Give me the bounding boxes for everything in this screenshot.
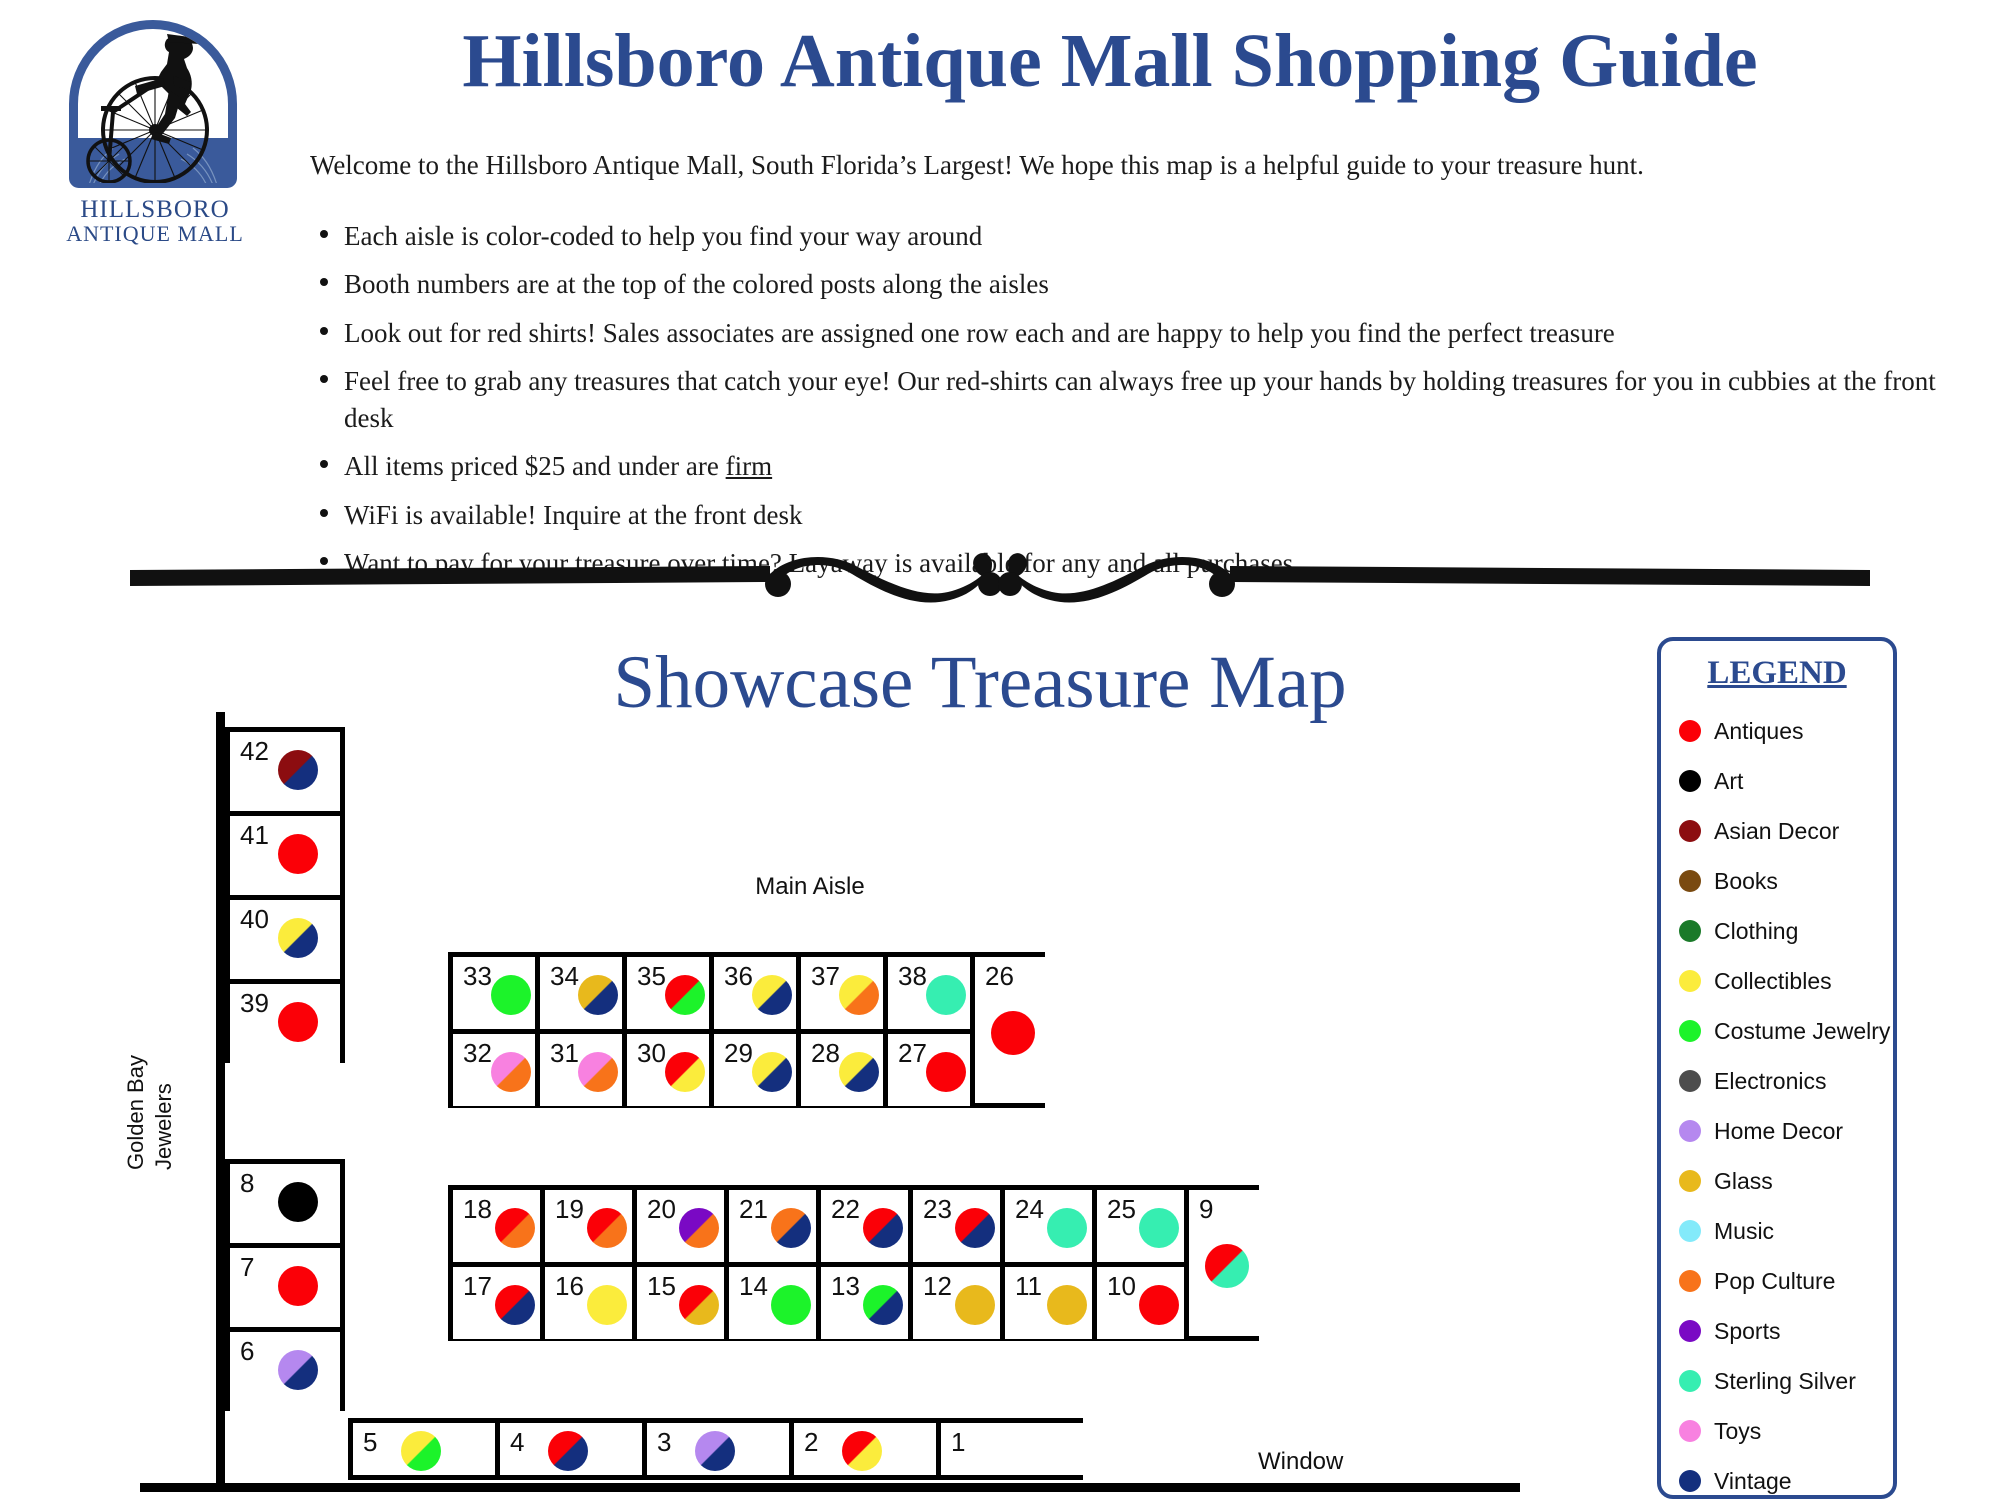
booth-cell[interactable]: 38 (888, 957, 970, 1029)
booth-category-dot (278, 918, 318, 958)
legend-color-swatch-icon (1679, 970, 1701, 992)
legend-item-label: Costume Jewelry (1714, 1018, 1890, 1045)
booth-cell[interactable]: 34 (540, 957, 622, 1029)
booth-number: 37 (811, 961, 840, 992)
window-label: Window (1258, 1448, 1343, 1476)
legend-item: Antiques (1679, 706, 1893, 756)
golden-bay-jewelers-line-2: Jewelers (151, 1083, 177, 1170)
bullet-text: Look out for red shirts! Sales associate… (344, 318, 1615, 348)
booth-number: 12 (923, 1271, 952, 1302)
booth-number: 25 (1107, 1194, 1136, 1225)
booth-number: 7 (240, 1252, 254, 1283)
ornamental-flourish-divider (130, 548, 1870, 608)
booth-number: 21 (739, 1194, 768, 1225)
booth-number: 2 (804, 1427, 818, 1458)
cell-divider (709, 957, 714, 1029)
legend-item-label: Sterling Silver (1714, 1368, 1856, 1395)
cell-divider (936, 1423, 941, 1475)
booth-category-dot (1139, 1285, 1179, 1325)
cell-divider (225, 1327, 345, 1332)
booth-cell[interactable]: 14 (729, 1267, 816, 1339)
legend-item-label: Music (1714, 1218, 1774, 1245)
booth-category-dot (1047, 1285, 1087, 1325)
legend-color-swatch-icon (1679, 1220, 1701, 1242)
booth-category-dot (665, 975, 705, 1015)
cell-divider (796, 957, 801, 1029)
cell-divider (535, 957, 540, 1029)
bullet-text: All items priced $25 and under are (344, 451, 726, 481)
bullet-text: Each aisle is color-coded to help you fi… (344, 221, 982, 251)
cell-divider (816, 1267, 821, 1339)
booth-cell[interactable]: 16 (545, 1267, 632, 1339)
legend-item: Home Decor (1679, 1106, 1893, 1156)
page-title: Hillsboro Antique Mall Shopping Guide (300, 22, 1920, 102)
booth-category-dot (771, 1208, 811, 1248)
legend-color-swatch-icon (1679, 1320, 1701, 1342)
legend-color-swatch-icon (1679, 1070, 1701, 1092)
booth-cell[interactable]: 19 (545, 1190, 632, 1262)
booth-number: 32 (463, 1038, 492, 1069)
booth-cell[interactable]: 15 (637, 1267, 724, 1339)
legend-item-label: Pop Culture (1714, 1268, 1835, 1295)
booth-number: 24 (1015, 1194, 1044, 1225)
booth-cell[interactable]: 41 (230, 816, 340, 895)
booth-cell[interactable]: 40 (230, 900, 340, 979)
booth-cell[interactable]: 21 (729, 1190, 816, 1262)
legend-item-label: Clothing (1714, 918, 1798, 945)
booth-cell[interactable]: 42 (230, 732, 340, 811)
booth-number: 30 (637, 1038, 666, 1069)
booth-cell[interactable]: 13 (821, 1267, 908, 1339)
cell-divider (724, 1190, 729, 1262)
booth-number: 15 (647, 1271, 676, 1302)
booth-cell[interactable]: 10 (1097, 1267, 1184, 1339)
legend-color-swatch-icon (1679, 870, 1701, 892)
booth-cell[interactable]: 24 (1005, 1190, 1092, 1262)
cell-divider (724, 1267, 729, 1339)
booth-category-dot (278, 1266, 318, 1306)
cell-divider (225, 1243, 345, 1248)
booth-number: 35 (637, 961, 666, 992)
info-bullet-item: Booth numbers are at the top of the colo… (310, 266, 1950, 302)
info-bullet-item: Look out for red shirts! Sales associate… (310, 315, 1950, 351)
logo-line-2: ANTIQUE MALL (55, 221, 255, 247)
legend-item: Glass (1679, 1156, 1893, 1206)
cell-divider (709, 1034, 714, 1106)
legend-item: Vintage (1679, 1456, 1893, 1506)
legend-color-swatch-icon (1679, 820, 1701, 842)
booth-category-dot (587, 1208, 627, 1248)
legend-item: Music (1679, 1206, 1893, 1256)
cell-divider (642, 1423, 647, 1475)
booth-number: 27 (898, 1038, 927, 1069)
cell-divider (540, 1267, 545, 1339)
legend-color-swatch-icon (1679, 1420, 1701, 1442)
cell-divider (622, 957, 627, 1029)
booth-category-dot (278, 750, 318, 790)
booth-category-dot (679, 1208, 719, 1248)
booth-cell[interactable]: 11 (1005, 1267, 1092, 1339)
booth-number: 23 (923, 1194, 952, 1225)
cell-divider (632, 1190, 637, 1262)
cell-divider (535, 1034, 540, 1106)
booth-category-dot (771, 1285, 811, 1325)
booth-category-dot (278, 834, 318, 874)
legend-item: Costume Jewelry (1679, 1006, 1893, 1056)
booth-category-dot (842, 1431, 882, 1471)
cell-divider (225, 895, 345, 900)
booth-cell[interactable]: 33 (453, 957, 535, 1029)
booth-number: 41 (240, 820, 269, 851)
wall-bottom-horizontal (140, 1483, 1520, 1492)
booth-number: 26 (985, 961, 1014, 992)
booth-number: 1 (951, 1427, 965, 1458)
booth-number: 31 (550, 1038, 579, 1069)
booth-cell[interactable]: 8 (230, 1164, 340, 1243)
booth-cell[interactable]: 18 (453, 1190, 540, 1262)
golden-bay-jewelers-line-1: Golden Bay (123, 1055, 149, 1170)
legend-item: Toys (1679, 1406, 1893, 1456)
bullet-text: WiFi is available! Inquire at the front … (344, 500, 803, 530)
cell-divider (883, 957, 888, 1029)
cell-divider (1000, 1190, 1005, 1262)
booth-cell[interactable]: 28 (801, 1034, 883, 1106)
booth-category-dot (839, 1052, 879, 1092)
legend-item-label: Toys (1714, 1418, 1761, 1445)
legend-color-swatch-icon (1679, 1270, 1701, 1292)
booth-category-dot (695, 1431, 735, 1471)
booth-number: 28 (811, 1038, 840, 1069)
booth-cell[interactable]: 39 (230, 984, 340, 1063)
booth-category-dot (839, 975, 879, 1015)
booth-category-dot (955, 1208, 995, 1248)
booth-number: 9 (1199, 1194, 1213, 1225)
booth-category-dot (578, 975, 618, 1015)
booth-number: 29 (724, 1038, 753, 1069)
booth-cell[interactable]: 3 (647, 1423, 789, 1475)
legend-item: Collectibles (1679, 956, 1893, 1006)
booth-cell[interactable]: 7 (230, 1248, 340, 1327)
booth-number: 5 (363, 1427, 377, 1458)
booth-number: 22 (831, 1194, 860, 1225)
booth-cell[interactable]: 35 (627, 957, 709, 1029)
info-bullet-item: Each aisle is color-coded to help you fi… (310, 218, 1950, 254)
booth-cell[interactable]: 37 (801, 957, 883, 1029)
cell-divider (632, 1267, 637, 1339)
legend-color-swatch-icon (1679, 1370, 1701, 1392)
legend-color-swatch-icon (1679, 920, 1701, 942)
booth-number: 34 (550, 961, 579, 992)
booth-category-dot (495, 1208, 535, 1248)
booth-number: 3 (657, 1427, 671, 1458)
booth-category-dot (278, 1182, 318, 1222)
booth-cell[interactable]: 4 (500, 1423, 642, 1475)
legend-item: Clothing (1679, 906, 1893, 956)
legend-item-label: Electronics (1714, 1068, 1826, 1095)
info-bullet-item: All items priced $25 and under are firm (310, 448, 1950, 484)
booth-category-dot (548, 1431, 588, 1471)
booth-number: 38 (898, 961, 927, 992)
cell-divider (540, 1190, 545, 1262)
booth-category-dot (752, 1052, 792, 1092)
booth-cell[interactable]: 23 (913, 1190, 1000, 1262)
booth-cell[interactable]: 27 (888, 1034, 970, 1106)
booth-category-dot (578, 1052, 618, 1092)
cell-divider (225, 811, 345, 816)
legend-color-swatch-icon (1679, 1120, 1701, 1142)
cell-divider (796, 1034, 801, 1106)
booth-category-dot (991, 1011, 1035, 1055)
wall-left-vertical (216, 712, 225, 1492)
legend-item-label: Glass (1714, 1168, 1773, 1195)
booth-number: 20 (647, 1194, 676, 1225)
brand-logo: HILLSBORO ANTIQUE MALL (55, 18, 255, 238)
booth-category-dot (955, 1285, 995, 1325)
legend-color-swatch-icon (1679, 770, 1701, 792)
cell-divider (622, 1034, 627, 1106)
info-bullet-list: Each aisle is color-coded to help you fi… (310, 218, 1950, 594)
booth-cell[interactable]: 29 (714, 1034, 796, 1106)
legend-color-swatch-icon (1679, 1470, 1701, 1492)
cell-divider (883, 1034, 888, 1106)
legend-color-swatch-icon (1679, 1020, 1701, 1042)
booth-cell[interactable]: 22 (821, 1190, 908, 1262)
booth-cell[interactable]: 12 (913, 1267, 1000, 1339)
booth-cell[interactable]: 31 (540, 1034, 622, 1106)
legend-item: Pop Culture (1679, 1256, 1893, 1306)
bullet-emphasis: firm (726, 451, 773, 481)
cell-divider (908, 1190, 913, 1262)
booth-cell[interactable]: 36 (714, 957, 796, 1029)
legend-list: AntiquesArtAsian DecorBooksClothingColle… (1661, 696, 1893, 1506)
legend-item-label: Collectibles (1714, 968, 1832, 995)
booth-category-dot (278, 1002, 318, 1042)
booth-cell[interactable]: 2 (794, 1423, 936, 1475)
booth-category-dot (863, 1208, 903, 1248)
booth-number: 39 (240, 988, 269, 1019)
booth-category-dot (926, 1052, 966, 1092)
logo-line-1: HILLSBORO (55, 196, 255, 224)
legend-item: Books (1679, 856, 1893, 906)
welcome-text: Welcome to the Hillsboro Antique Mall, S… (310, 150, 1950, 181)
map-title: Showcase Treasure Map (480, 640, 1480, 726)
booth-number: 33 (463, 961, 492, 992)
legend-title: LEGEND (1661, 641, 1893, 696)
cell-divider (908, 1267, 913, 1339)
booth-category-dot (1139, 1208, 1179, 1248)
cell-divider (789, 1423, 794, 1475)
main-aisle-label: Main Aisle (700, 873, 920, 901)
booth-number: 10 (1107, 1271, 1136, 1302)
booth-cell[interactable]: 6 (230, 1332, 340, 1411)
booth-category-dot (401, 1431, 441, 1471)
booth-cell[interactable]: 32 (453, 1034, 535, 1106)
booth-number: 11 (1015, 1271, 1042, 1302)
booth-category-dot (863, 1285, 903, 1325)
booth-cell[interactable]: 26 (975, 957, 1045, 1103)
legend-item: Sports (1679, 1306, 1893, 1356)
cell-divider (225, 979, 345, 984)
legend-item-label: Antiques (1714, 718, 1804, 745)
booth-category-dot (752, 975, 792, 1015)
booth-cell[interactable]: 17 (453, 1267, 540, 1339)
booth-number: 16 (555, 1271, 584, 1302)
legend-item-label: Sports (1714, 1318, 1780, 1345)
legend-item: Electronics (1679, 1056, 1893, 1106)
booth-category-dot (491, 1052, 531, 1092)
penny-farthing-bicycle-icon (69, 20, 237, 192)
booth-cell[interactable]: 9 (1189, 1190, 1259, 1336)
booth-number: 6 (240, 1336, 254, 1367)
booth-category-dot (679, 1285, 719, 1325)
booth-number: 14 (739, 1271, 768, 1302)
cell-divider (816, 1190, 821, 1262)
booth-category-dot (1047, 1208, 1087, 1248)
booth-number: 18 (463, 1194, 492, 1225)
legend-panel: LEGEND AntiquesArtAsian DecorBooksClothi… (1657, 637, 1897, 1499)
legend-item-label: Vintage (1714, 1468, 1792, 1495)
legend-item-label: Books (1714, 868, 1778, 895)
cell-divider (1000, 1267, 1005, 1339)
booth-number: 17 (463, 1271, 492, 1302)
legend-item: Asian Decor (1679, 806, 1893, 856)
info-bullet-item: WiFi is available! Inquire at the front … (310, 497, 1950, 533)
booth-cell[interactable]: 1 (941, 1423, 1083, 1475)
booth-number: 13 (831, 1271, 860, 1302)
booth-number: 8 (240, 1168, 254, 1199)
booth-category-dot (495, 1285, 535, 1325)
legend-color-swatch-icon (1679, 720, 1701, 742)
legend-item: Sterling Silver (1679, 1356, 1893, 1406)
legend-color-swatch-icon (1679, 1170, 1701, 1192)
booth-cell[interactable]: 30 (627, 1034, 709, 1106)
booth-category-dot (1205, 1244, 1249, 1288)
booth-number: 19 (555, 1194, 584, 1225)
booth-cell[interactable]: 20 (637, 1190, 724, 1262)
cell-divider (1092, 1267, 1097, 1339)
booth-number: 4 (510, 1427, 524, 1458)
info-bullet-item: Feel free to grab any treasures that cat… (310, 363, 1950, 436)
booth-category-dot (665, 1052, 705, 1092)
booth-cell[interactable]: 25 (1097, 1190, 1184, 1262)
bullet-text: Booth numbers are at the top of the colo… (344, 269, 1049, 299)
golden-bay-jewelers-label: Golden Bay Jewelers (105, 1020, 165, 1170)
legend-item-label: Home Decor (1714, 1118, 1843, 1145)
booth-category-dot (926, 975, 966, 1015)
booth-number: 36 (724, 961, 753, 992)
cell-divider (495, 1423, 500, 1475)
legend-item-label: Asian Decor (1714, 818, 1839, 845)
booth-category-dot (587, 1285, 627, 1325)
legend-item: Art (1679, 756, 1893, 806)
bullet-text: Feel free to grab any treasures that cat… (344, 366, 1936, 432)
cell-divider (1092, 1190, 1097, 1262)
booth-category-dot (278, 1350, 318, 1390)
legend-item-label: Art (1714, 768, 1743, 795)
booth-category-dot (491, 975, 531, 1015)
booth-number: 42 (240, 736, 269, 767)
booth-cell[interactable]: 5 (353, 1423, 495, 1475)
booth-number: 40 (240, 904, 269, 935)
